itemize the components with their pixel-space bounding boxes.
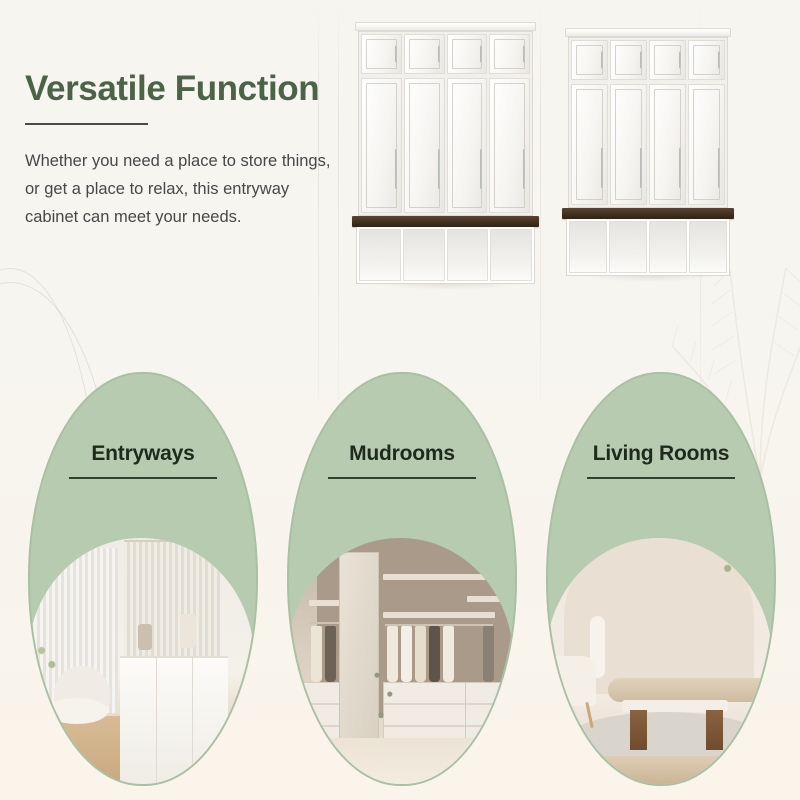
product-image-hall-tree-angled	[358, 22, 533, 284]
foliage-icon	[706, 546, 772, 602]
cabinet-drawer	[688, 40, 725, 80]
body-copy: Whether you need a place to store things…	[25, 147, 343, 232]
promo-page: Versatile Function Whether you need a pl…	[0, 0, 800, 800]
cabinet-cubby	[569, 221, 607, 273]
coffee-table-leg	[706, 710, 723, 750]
use-case-card-mudrooms[interactable]: Mudrooms	[287, 372, 517, 786]
cabinet-cubby	[649, 221, 687, 273]
cabinet-door	[649, 84, 686, 205]
product-image-hall-tree-front	[568, 28, 728, 276]
door-handle-icon	[679, 148, 681, 188]
drawer-handle-icon	[480, 46, 482, 63]
cabinet-cubby-row	[356, 227, 535, 284]
cabinet-cornice	[355, 22, 536, 31]
door-handle-icon	[523, 149, 525, 189]
hanging-garment	[483, 626, 494, 682]
cabinet-bench-seat	[352, 216, 539, 227]
cabinet-cornice	[565, 28, 731, 37]
title-divider	[25, 123, 148, 125]
closet-shelf	[383, 574, 495, 580]
cabinet-door-row	[568, 82, 728, 208]
lounge-armchair	[546, 656, 596, 706]
door-handle-icon	[601, 148, 603, 188]
cabinet-drawer	[404, 34, 445, 74]
card-label-underline	[587, 477, 735, 479]
card-label-underline	[328, 477, 476, 479]
cabinet-door	[361, 78, 402, 213]
door-handle-icon	[438, 149, 440, 189]
flower-vase-icon	[138, 624, 152, 650]
cabinet-bench-seat	[562, 208, 734, 219]
card-label: Mudrooms	[289, 442, 515, 466]
door-handle-icon	[718, 148, 720, 188]
cabinet-cubby	[689, 221, 727, 273]
cabinet-cubby	[609, 221, 647, 273]
hanging-garment	[311, 626, 322, 682]
drawer-handle-icon	[679, 52, 681, 69]
wood-floor	[546, 756, 772, 786]
white-entry-cabinet	[120, 656, 228, 786]
card-photo-living-rooms	[546, 538, 772, 786]
cabinet-door	[571, 84, 608, 205]
door-handle-icon	[395, 149, 397, 189]
card-photo-entryways	[28, 538, 254, 786]
coffee-table-leg	[630, 710, 647, 750]
cabinet-cubby	[403, 229, 445, 281]
cabinet-drawer	[571, 40, 608, 80]
cabinet-drawer	[649, 40, 686, 80]
page-title: Versatile Function	[25, 70, 355, 109]
cabinet-cubby	[359, 229, 401, 281]
cabinet-door	[489, 78, 530, 213]
drawer-handle-icon	[523, 46, 525, 63]
drawer-handle-icon	[718, 52, 720, 69]
card-label: Entryways	[30, 442, 256, 466]
console-table	[608, 678, 772, 702]
drawer-handle-icon	[601, 52, 603, 69]
cabinet-drawer	[447, 34, 488, 74]
cabinet-drawer	[610, 40, 647, 80]
use-case-card-entryways[interactable]: Entryways	[28, 372, 258, 786]
branch-vase-icon	[365, 658, 405, 744]
hanging-garment	[415, 626, 426, 682]
cabinet-door	[610, 84, 647, 205]
hanging-garment	[325, 626, 336, 682]
card-label-underline	[69, 477, 217, 479]
cabinet-cubby	[490, 229, 532, 281]
cabinet-cubby-row	[566, 219, 730, 276]
use-case-card-living-rooms[interactable]: Living Rooms	[546, 372, 776, 786]
use-case-card-group: Entryways	[0, 372, 800, 792]
headline-block: Versatile Function Whether you need a pl…	[25, 70, 355, 232]
door-handle-icon	[480, 149, 482, 189]
cabinet-door	[404, 78, 445, 213]
cabinet-door	[447, 78, 488, 213]
drawer-handle-icon	[438, 46, 440, 63]
drawer-handle-icon	[640, 52, 642, 69]
card-label: Living Rooms	[548, 442, 774, 466]
cabinet-door	[688, 84, 725, 205]
drawer-handle-icon	[395, 46, 397, 63]
cabinet-drawer-row	[358, 31, 533, 76]
door-handle-icon	[640, 148, 642, 188]
closet-shelf	[383, 612, 495, 618]
card-photo-mudrooms	[287, 538, 513, 786]
closet-floor	[287, 738, 513, 786]
cabinet-drawer	[489, 34, 530, 74]
hanging-garment	[443, 626, 454, 682]
cabinet-drawer-row	[568, 37, 728, 82]
hanging-garment	[429, 626, 440, 682]
cabinet-cubby	[447, 229, 489, 281]
cabinet-drawer	[361, 34, 402, 74]
closet-shelf	[467, 596, 513, 602]
cabinet-door-row	[358, 76, 533, 216]
round-coffee-table	[46, 698, 108, 724]
product-photo-group	[340, 0, 800, 310]
flower-vase-icon	[180, 614, 196, 648]
